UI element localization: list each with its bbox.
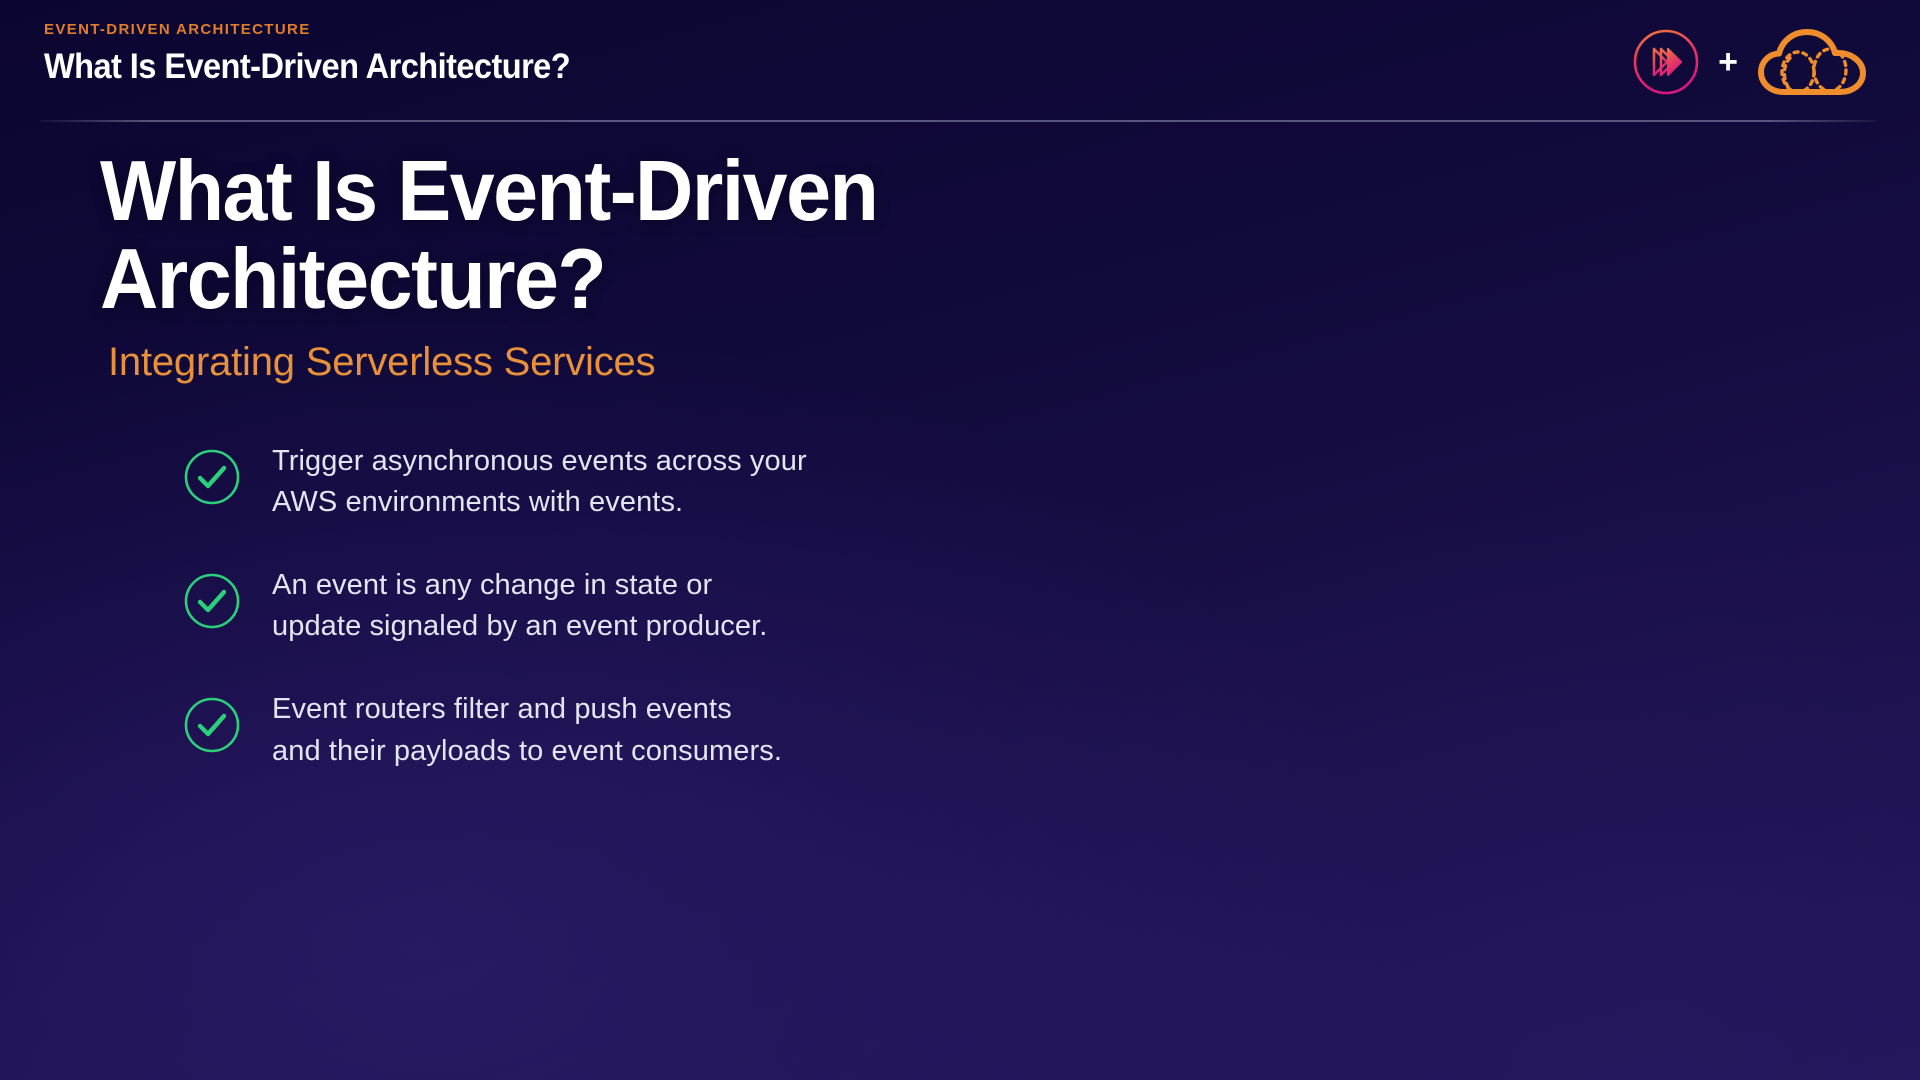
list-item-label: Event routers filter and push events and…: [272, 687, 782, 771]
slide-root: EVENT-DRIVEN ARCHITECTURE What Is Event-…: [0, 0, 1920, 1080]
header-title: What Is Event-Driven Architecture?: [44, 49, 570, 84]
brand-lockup: +: [1630, 22, 1874, 102]
slide-body: What Is Event-Driven Architecture? Integ…: [100, 148, 1200, 772]
play-circle-logo: [1630, 26, 1702, 98]
list-item: Event routers filter and push events and…: [100, 687, 1200, 771]
list-item-label: Trigger asynchronous events across your …: [272, 439, 807, 523]
aws-cloud-icon: [1754, 24, 1874, 100]
list-item-label: An event is any change in state or updat…: [272, 563, 767, 647]
play-circle-icon: [1630, 26, 1702, 98]
bullet-list: Trigger asynchronous events across your …: [100, 439, 1200, 772]
page-title: What Is Event-Driven Architecture?: [100, 148, 1145, 325]
check-circle-icon: [182, 571, 242, 631]
aws-cloud-logo: [1754, 24, 1874, 100]
list-item: Trigger asynchronous events across your …: [100, 439, 1200, 523]
check-circle-icon: [182, 695, 242, 755]
header-eyebrow: EVENT-DRIVEN ARCHITECTURE: [44, 22, 610, 37]
header-divider: [40, 120, 1876, 122]
list-item: An event is any change in state or updat…: [100, 563, 1200, 647]
plus-separator: +: [1718, 45, 1738, 79]
header-text-group: EVENT-DRIVEN ARCHITECTURE What Is Event-…: [44, 22, 610, 84]
page-subtitle: Integrating Serverless Services: [108, 339, 1200, 385]
slide-header: EVENT-DRIVEN ARCHITECTURE What Is Event-…: [0, 0, 1920, 128]
check-circle-icon: [182, 447, 242, 507]
